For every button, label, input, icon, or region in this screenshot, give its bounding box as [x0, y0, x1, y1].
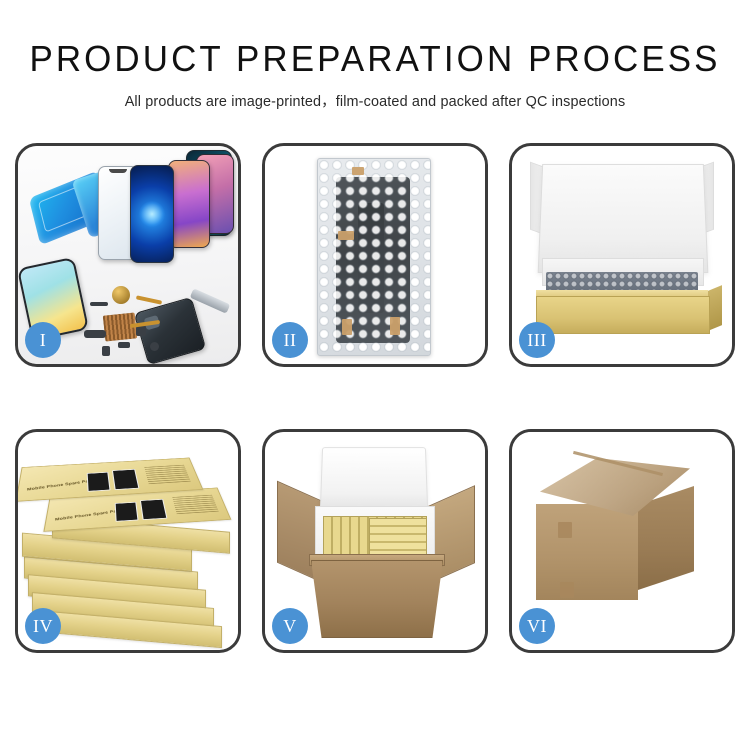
- process-step-panel-3: III: [509, 143, 735, 367]
- box-spec-lines: [172, 495, 219, 515]
- box-label-text: Mobile Phone Spare Parts: [27, 479, 96, 493]
- carton-front-face: [536, 504, 638, 600]
- tape-icon: [338, 231, 354, 240]
- bubble-wrap-pouch-icon: [317, 158, 431, 356]
- product-preparation-page: PRODUCT PREPARATION PROCESS All products…: [0, 0, 750, 750]
- phone-screen-blue-icon: [130, 165, 174, 263]
- process-step-panel-6: VI: [509, 429, 735, 653]
- box-window-icon: [112, 469, 139, 490]
- process-step-panel-4: Mobile Phone Spare Parts Mobile Phone Sp…: [15, 429, 241, 653]
- phone-screen-purple-icon: [168, 160, 210, 248]
- step-badge-4: IV: [25, 608, 61, 644]
- flex-cable-icon: [136, 295, 162, 304]
- box-side-panel: [708, 285, 722, 331]
- speaker-component-icon: [112, 286, 130, 304]
- tape-icon: [390, 317, 400, 335]
- foam-box-lid-icon: [320, 447, 428, 510]
- white-box-lid-icon: [538, 164, 709, 273]
- process-step-panel-5: V: [262, 429, 488, 653]
- carton-tape-icon: [560, 582, 574, 598]
- small-part-icon: [150, 342, 159, 351]
- tape-icon: [352, 167, 364, 175]
- small-part-icon: [118, 342, 130, 348]
- box-spec-lines: [144, 465, 191, 485]
- process-step-grid: I II: [15, 143, 735, 677]
- small-part-icon: [102, 346, 110, 356]
- outer-carton-icon: [311, 560, 443, 638]
- box-window-icon: [115, 502, 139, 522]
- repair-tool-icon: [190, 288, 231, 313]
- process-step-panel-1: I: [15, 143, 241, 367]
- process-step-panel-2: II: [262, 143, 488, 367]
- step-badge-5: V: [272, 608, 308, 644]
- kraft-box-front-icon: [536, 296, 710, 334]
- box-window-icon: [140, 499, 167, 520]
- small-part-icon: [84, 330, 106, 338]
- step-badge-3: III: [519, 322, 555, 358]
- small-part-icon: [136, 326, 146, 336]
- packed-boxes-icon: [369, 518, 427, 558]
- box-window-icon: [87, 472, 111, 492]
- page-header: PRODUCT PREPARATION PROCESS All products…: [0, 0, 750, 111]
- step-badge-2: II: [272, 322, 308, 358]
- step-badge-1: I: [25, 322, 61, 358]
- carton-tape-icon: [558, 522, 572, 538]
- tape-icon: [342, 319, 352, 335]
- page-subtitle: All products are image-printed，film-coat…: [0, 78, 750, 111]
- page-title: PRODUCT PREPARATION PROCESS: [11, 0, 739, 78]
- small-part-icon: [90, 302, 108, 306]
- step-badge-6: VI: [519, 608, 555, 644]
- box-label-text: Mobile Phone Spare Parts: [55, 509, 124, 523]
